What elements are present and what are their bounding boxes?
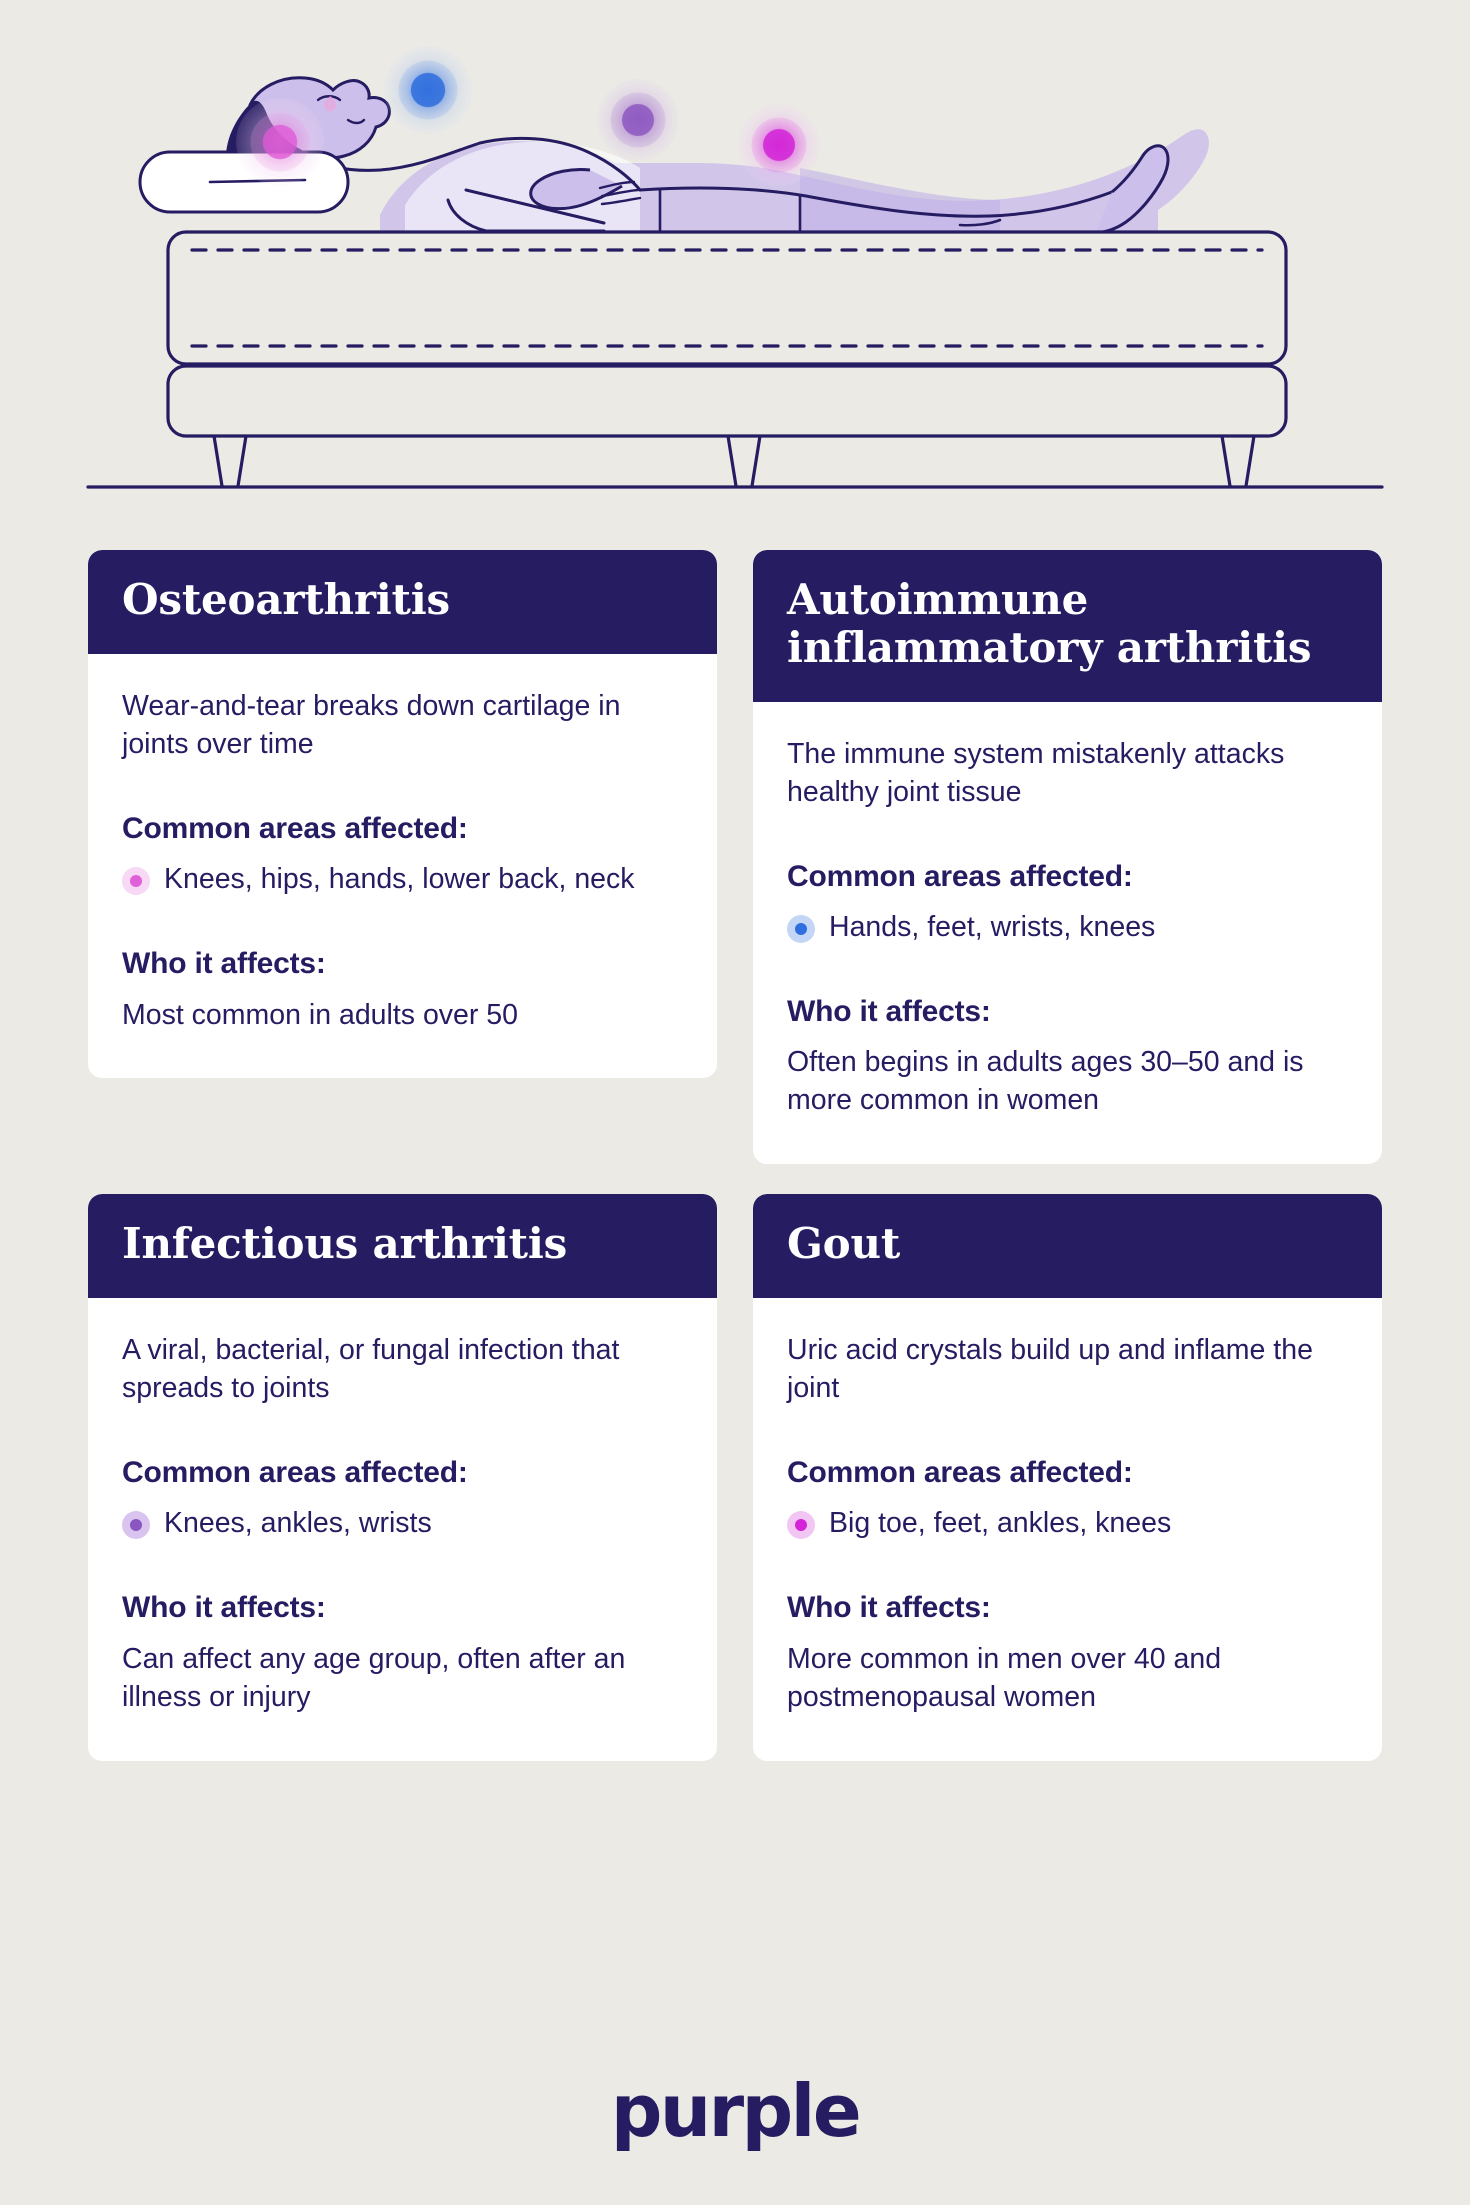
pain-point-ankle-icon bbox=[738, 104, 820, 186]
card-title: Autoimmune inflammatory arthritis bbox=[787, 576, 1348, 672]
bullet-dot-icon bbox=[122, 867, 150, 895]
leg-2-right bbox=[752, 436, 760, 486]
bed-base bbox=[168, 366, 1286, 436]
who-affects-text: More common in men over 40 and postmenop… bbox=[787, 1641, 1348, 1717]
common-areas-bullet: Big toe, feet, ankles, knees bbox=[787, 1505, 1348, 1543]
card-body-gout: Uric acid crystals build up and inflame … bbox=[753, 1298, 1382, 1760]
card-title: Infectious arthritis bbox=[122, 1220, 683, 1268]
card-title: Gout bbox=[787, 1220, 1348, 1268]
footer: purple bbox=[0, 2075, 1470, 2147]
person-on-mattress-svg bbox=[0, 0, 1470, 520]
common-areas-text: Big toe, feet, ankles, knees bbox=[829, 1505, 1171, 1543]
bullet-dot-icon bbox=[787, 1511, 815, 1539]
hero-illustration bbox=[0, 0, 1470, 520]
common-areas-heading: Common areas affected: bbox=[787, 858, 1348, 896]
pain-point-hand-icon bbox=[384, 46, 472, 134]
who-affects-heading: Who it affects: bbox=[787, 1589, 1348, 1627]
who-affects-heading: Who it affects: bbox=[787, 993, 1348, 1031]
common-areas-text: Hands, feet, wrists, knees bbox=[829, 909, 1155, 947]
pain-point-neck-icon bbox=[236, 98, 324, 186]
common-areas-text: Knees, ankles, wrists bbox=[164, 1505, 432, 1543]
common-areas-text: Knees, hips, hands, lower back, neck bbox=[164, 861, 635, 899]
bullet-dot-icon bbox=[787, 915, 815, 943]
common-areas-heading: Common areas affected: bbox=[122, 1454, 683, 1492]
bullet-dot-icon bbox=[122, 1511, 150, 1539]
card-header-autoimmune: Autoimmune inflammatory arthritis bbox=[753, 550, 1382, 702]
common-areas-bullet: Knees, hips, hands, lower back, neck bbox=[122, 861, 683, 899]
who-affects-text: Most common in adults over 50 bbox=[122, 997, 683, 1035]
card-title: Osteoarthritis bbox=[122, 576, 683, 624]
common-areas-bullet: Hands, feet, wrists, knees bbox=[787, 909, 1348, 947]
card-header-osteoarthritis: Osteoarthritis bbox=[88, 550, 717, 654]
mattress-body bbox=[168, 232, 1286, 364]
leg-3-left bbox=[1222, 436, 1230, 486]
card-description: The immune system mistakenly attacks hea… bbox=[787, 736, 1348, 812]
leg-2-left bbox=[728, 436, 736, 486]
leg-1-left bbox=[214, 436, 222, 486]
leg-3-right bbox=[1246, 436, 1254, 486]
purple-logo[interactable]: purple bbox=[611, 2075, 859, 2147]
who-affects-heading: Who it affects: bbox=[122, 945, 683, 983]
bed-legs bbox=[214, 436, 1254, 486]
mattress bbox=[168, 232, 1286, 364]
base-body bbox=[168, 366, 1286, 436]
card-body-autoimmune: The immune system mistakenly attacks hea… bbox=[753, 702, 1382, 1164]
card-body-infectious: A viral, bacterial, or fungal infection … bbox=[88, 1298, 717, 1760]
card-gout: Gout Uric acid crystals build up and inf… bbox=[753, 1194, 1382, 1760]
card-description: Uric acid crystals build up and inflame … bbox=[787, 1332, 1348, 1408]
card-header-gout: Gout bbox=[753, 1194, 1382, 1298]
who-affects-text: Often begins in adults ages 30–50 and is… bbox=[787, 1044, 1348, 1120]
leg-1-right bbox=[238, 436, 246, 486]
card-autoimmune-inflammatory-arthritis: Autoimmune inflammatory arthritis The im… bbox=[753, 550, 1382, 1164]
common-areas-heading: Common areas affected: bbox=[787, 1454, 1348, 1492]
common-areas-heading: Common areas affected: bbox=[122, 810, 683, 848]
card-description: A viral, bacterial, or fungal infection … bbox=[122, 1332, 683, 1408]
card-body-osteoarthritis: Wear-and-tear breaks down cartilage in j… bbox=[88, 654, 717, 1079]
card-osteoarthritis: Osteoarthritis Wear-and-tear breaks down… bbox=[88, 550, 717, 1078]
who-affects-heading: Who it affects: bbox=[122, 1589, 683, 1627]
who-affects-text: Can affect any age group, often after an… bbox=[122, 1641, 683, 1717]
pain-point-knee-icon bbox=[597, 79, 679, 161]
card-header-infectious: Infectious arthritis bbox=[88, 1194, 717, 1298]
card-infectious-arthritis: Infectious arthritis A viral, bacterial,… bbox=[88, 1194, 717, 1760]
card-description: Wear-and-tear breaks down cartilage in j… bbox=[122, 688, 683, 764]
arthritis-type-cards: Osteoarthritis Wear-and-tear breaks down… bbox=[88, 550, 1382, 1761]
common-areas-bullet: Knees, ankles, wrists bbox=[122, 1505, 683, 1543]
